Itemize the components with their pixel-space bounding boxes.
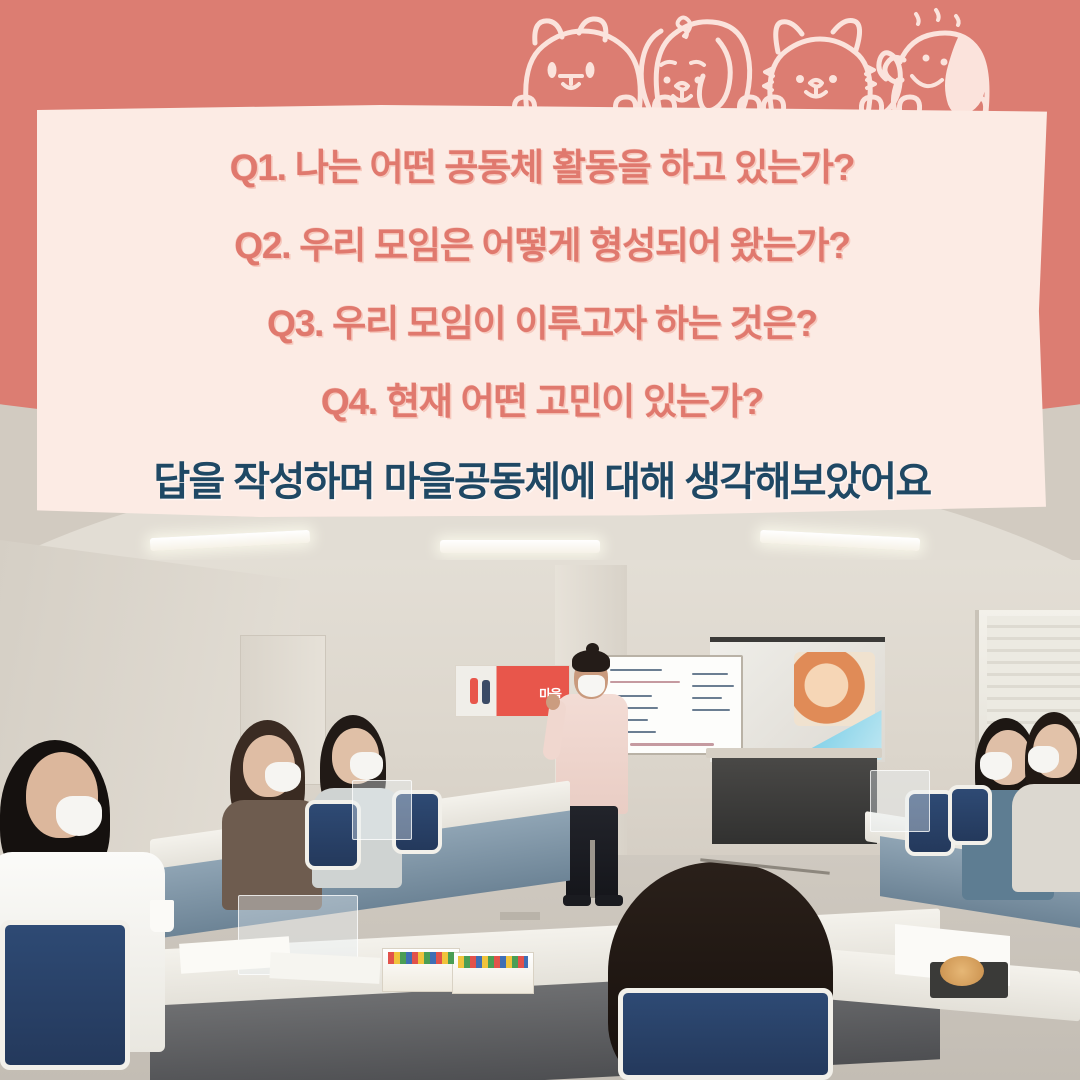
question-line-3: Q3. 우리 모임이 이루고자 하는 것은? — [67, 305, 1017, 342]
av-cabinet — [712, 756, 877, 844]
ceiling-light — [440, 540, 600, 553]
floppy-ear-dog-character — [641, 18, 759, 114]
question-line-1: Q1. 나는 어떤 공동체 활동을 하고 있는가? — [67, 149, 1017, 186]
floor-marking — [500, 912, 540, 920]
chair — [0, 920, 130, 1070]
crayon-row — [458, 956, 528, 968]
cup — [150, 900, 174, 932]
desk-partition — [352, 780, 412, 840]
projected-food-image — [794, 652, 875, 726]
banner-figure — [470, 678, 478, 704]
crayon-row — [388, 952, 454, 964]
desk-partition — [870, 770, 930, 832]
question-card: Q1. 나는 어떤 공동체 활동을 하고 있는가? Q2. 우리 모임은 어떻게… — [37, 105, 1047, 517]
animal-character-row — [0, 0, 1080, 120]
cat-character — [763, 20, 900, 113]
chair — [948, 785, 992, 845]
snack — [940, 956, 984, 986]
poster-canvas: 마을 — [0, 0, 1080, 1080]
side-dog-character — [885, 10, 987, 113]
question-line-2: Q2. 우리 모임은 어떻게 형성되어 왔는가? — [67, 227, 1017, 264]
chair — [618, 988, 833, 1080]
answer-caption: 답을 작성하며 마을공동체에 대해 생각해보았어요 — [67, 462, 1017, 502]
question-line-4: Q4. 현재 어떤 고민이 있는가? — [67, 383, 1017, 420]
bear-character — [514, 19, 640, 113]
banner-figure — [482, 680, 490, 704]
